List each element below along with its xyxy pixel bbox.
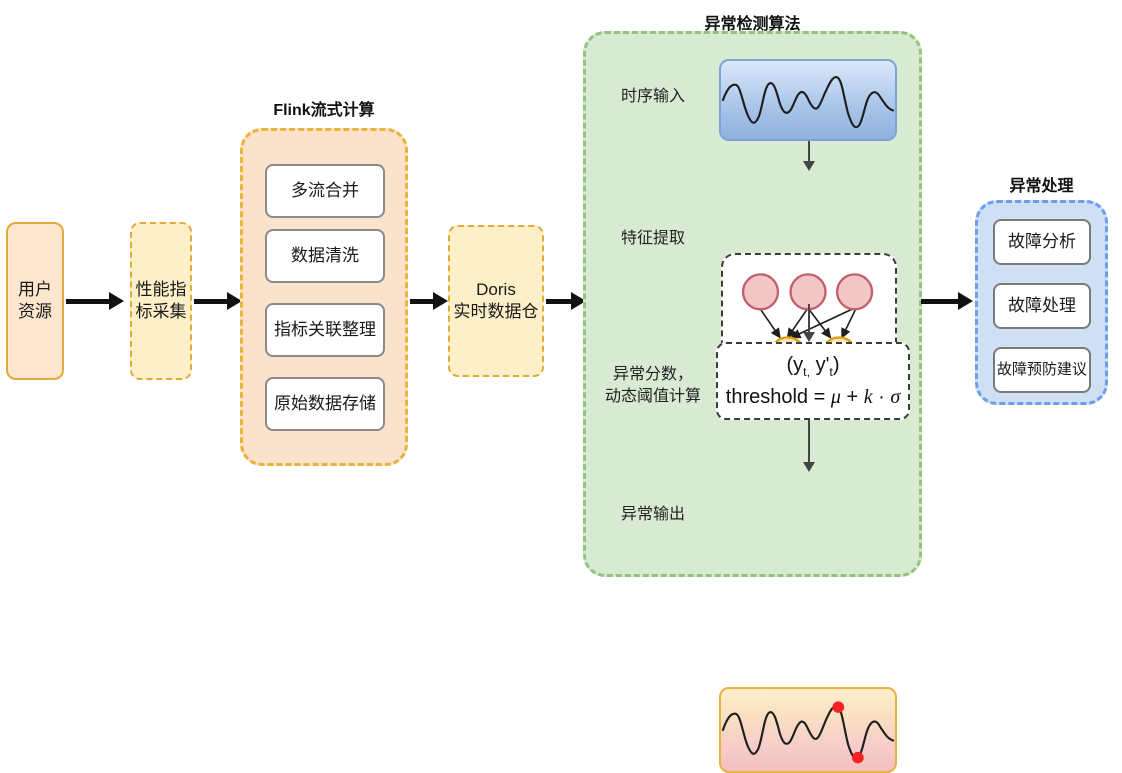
- formula-y-prime: y': [810, 354, 829, 376]
- chart-anomaly-output[interactable]: [719, 687, 897, 773]
- node-doris-warehouse[interactable]: Doris 实时数据仓: [448, 225, 544, 377]
- handling-item-1-label: 故障处理: [1008, 295, 1076, 317]
- formula-threshold-lhs: threshold =: [726, 386, 831, 408]
- node-user-resource[interactable]: 用户 资源: [6, 222, 64, 380]
- algo-stage-label-1: 特征提取: [598, 228, 708, 250]
- group-flink-title: Flink流式计算: [240, 96, 408, 120]
- flink-item-2-label: 指标关联整理: [274, 319, 376, 341]
- arrow-threshold-to-output: [808, 420, 810, 472]
- anomaly-point-low: [852, 752, 864, 763]
- arrow-head: [803, 332, 815, 342]
- arrow-shaft: [808, 420, 810, 463]
- diagram-canvas: 用户 资源 性能指 标采集 Flink流式计算 多流合并 数据清洗 指标关联整理…: [0, 0, 1122, 582]
- algo-stage-label-0: 时序输入: [598, 86, 708, 108]
- arrow-head: [109, 292, 124, 310]
- flink-item-0-label: 多流合并: [291, 180, 359, 202]
- arrow-shaft: [66, 299, 112, 304]
- arrow-head: [433, 292, 448, 310]
- flink-item-2[interactable]: 指标关联整理: [265, 303, 385, 357]
- formula-open-paren: (y: [786, 354, 803, 376]
- formula-sigma: σ: [890, 386, 900, 408]
- arrow-shaft: [808, 141, 810, 162]
- node-metric-collection-label: 性能指 标采集: [136, 279, 187, 323]
- handling-item-1[interactable]: 故障处理: [993, 283, 1091, 329]
- timeseries-input-line: [721, 61, 895, 139]
- arrow-input-to-features: [808, 141, 810, 171]
- formula-mu: μ: [831, 386, 841, 408]
- handling-item-0[interactable]: 故障分析: [993, 219, 1091, 265]
- formula-line-threshold: threshold = μ + k · σ: [726, 382, 900, 412]
- flink-item-1-label: 数据清洗: [291, 245, 359, 267]
- flink-item-1[interactable]: 数据清洗: [265, 229, 385, 283]
- arrow-shaft: [921, 299, 961, 304]
- algo-stage-label-3: 异常输出: [598, 504, 708, 526]
- flink-item-3-label: 原始数据存储: [274, 393, 376, 415]
- handling-item-2[interactable]: 故障预防建议: [993, 347, 1091, 393]
- handling-item-0-label: 故障分析: [1008, 231, 1076, 253]
- card-threshold-formula[interactable]: (yt, y't) threshold = μ + k · σ: [716, 342, 910, 420]
- formula-k: k: [864, 386, 873, 408]
- handling-item-2-label: 故障预防建议: [997, 360, 1087, 379]
- flink-item-3[interactable]: 原始数据存储: [265, 377, 385, 431]
- arrow-head: [803, 161, 815, 171]
- node-metric-collection[interactable]: 性能指 标采集: [130, 222, 192, 380]
- formula-plus: +: [841, 386, 864, 408]
- algo-stage-label-2: 异常分数， 动态阈值计算: [590, 364, 716, 407]
- group-anomaly-detection-title: 异常检测算法: [583, 10, 922, 34]
- arrow-head: [803, 462, 815, 472]
- node-user-resource-label: 用户 资源: [18, 279, 52, 323]
- group-anomaly-handling-title: 异常处理: [975, 172, 1108, 196]
- arrow-head: [958, 292, 973, 310]
- arrow-shaft: [194, 299, 230, 304]
- anomaly-point-high: [832, 701, 844, 712]
- arrow-shaft: [808, 304, 810, 333]
- formula-dot: ·: [873, 386, 891, 408]
- node-doris-warehouse-label: Doris 实时数据仓: [454, 279, 539, 323]
- arrow-features-to-threshold: [808, 304, 810, 342]
- chart-timeseries-input[interactable]: [719, 59, 897, 141]
- flink-item-0[interactable]: 多流合并: [265, 164, 385, 218]
- anomaly-output-line: [721, 689, 895, 771]
- arrow-shaft: [546, 299, 574, 304]
- formula-sub-t1: t,: [803, 365, 810, 379]
- formula-line-prediction-pair: (yt, y't): [786, 350, 839, 382]
- formula-close-paren: ): [833, 354, 840, 376]
